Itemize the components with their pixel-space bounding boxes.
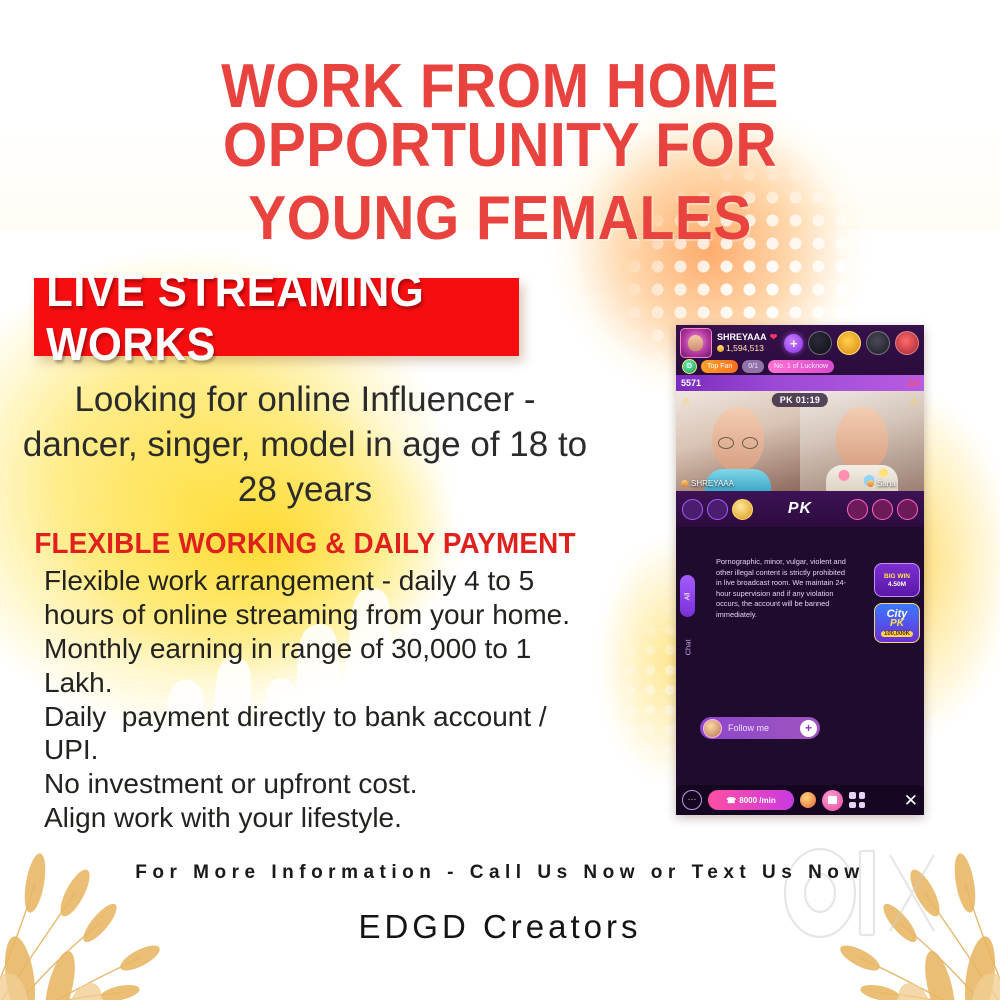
close-icon[interactable]: ✕ bbox=[904, 792, 918, 809]
red-subheading: FLEXIBLE WORKING & DAILY PAYMENT bbox=[31, 528, 578, 561]
pk-label: PK bbox=[788, 500, 812, 518]
left-broadcaster-name-tag: SHREYAAA bbox=[681, 479, 734, 488]
body-line: Lakh. bbox=[44, 666, 604, 700]
host-name-row: SHREYAAA ❤ bbox=[717, 333, 777, 342]
left-broadcaster-name: SHREYAAA bbox=[691, 479, 734, 488]
all-tab-label: All bbox=[684, 592, 691, 600]
supporter-avatar[interactable] bbox=[682, 499, 703, 520]
pk-supporter-row: PK bbox=[676, 491, 924, 527]
supporter-avatar-top[interactable] bbox=[732, 499, 753, 520]
score-progress-bar: 5571 :10 bbox=[676, 375, 924, 391]
badge-chip-row: D Top Fan 0/1 No. 1 of Lucknow bbox=[682, 359, 834, 374]
body-line: UPI. bbox=[44, 733, 604, 767]
body-copy: Flexible work arrangement - daily 4 to 5… bbox=[44, 564, 604, 835]
footer-brand-name: EDGD Creators bbox=[0, 908, 1000, 946]
viewer-avatar[interactable] bbox=[895, 331, 919, 355]
intro-text: Looking for online Influencer - dancer, … bbox=[20, 378, 590, 512]
pk-video-stage: PK 01:19 ⚠ SHREYAAA ⚠ Sana bbox=[676, 391, 924, 491]
viewer-avatar[interactable] bbox=[866, 331, 890, 355]
badge-icon bbox=[681, 480, 688, 487]
banner-label: LIVE STREAMING WORKS bbox=[46, 263, 507, 371]
headline-line-1: WORK FROM HOME OPPORTUNITY FOR bbox=[40, 58, 960, 176]
right-broadcaster-name: Sana bbox=[877, 479, 896, 488]
body-line: No investment or upfront cost. bbox=[44, 767, 604, 801]
face-shape bbox=[836, 407, 888, 471]
chat-tab-label[interactable]: Chat bbox=[681, 632, 695, 662]
follow-me-label: Follow me bbox=[728, 723, 800, 733]
chat-area: All Chat Pornographic, minor, vulgar, vi… bbox=[676, 527, 924, 815]
supporter-avatar[interactable] bbox=[707, 499, 728, 520]
body-line: hours of online streaming from your home… bbox=[44, 598, 604, 632]
grid-menu-icon[interactable] bbox=[849, 792, 865, 808]
city-pk-widget[interactable]: City PK 100,000K bbox=[874, 603, 920, 643]
gift-shop-icon[interactable] bbox=[822, 790, 843, 811]
left-supporters bbox=[682, 499, 753, 520]
right-supporters bbox=[847, 499, 918, 520]
right-broadcaster-name-tag: Sana bbox=[867, 479, 896, 488]
poster-canvas: WORK FROM HOME OPPORTUNITY FOR YOUNG FEM… bbox=[0, 0, 1000, 1000]
call-price-button[interactable]: ☎ 8000 /min bbox=[708, 790, 794, 810]
host-meta: SHREYAAA ❤ 1,594,513 bbox=[717, 333, 777, 353]
headline-line-2: YOUNG FEMALES bbox=[40, 190, 960, 249]
big-win-title: BIG WIN bbox=[884, 573, 910, 580]
badge-icon bbox=[867, 480, 874, 487]
follow-plus-button[interactable]: + bbox=[800, 720, 817, 737]
coin-icon bbox=[717, 345, 724, 352]
live-stream-screenshot: SHREYAAA ❤ 1,594,513 + 7 D Top Fan 0/1 N… bbox=[676, 325, 924, 815]
countdown-value: :10 bbox=[906, 378, 919, 388]
score-value: 5571 bbox=[681, 378, 701, 388]
supporter-avatar[interactable] bbox=[897, 499, 918, 520]
side-widgets: BIG WIN 4.50M City PK 100,000K bbox=[874, 563, 920, 643]
follow-me-prompt[interactable]: Follow me + bbox=[700, 717, 820, 739]
body-line: Flexible work arrangement - daily 4 to 5 bbox=[44, 564, 604, 598]
big-win-value: 4.50M bbox=[888, 581, 906, 588]
chat-label-text: Chat bbox=[684, 639, 693, 655]
call-price-label: 8000 /min bbox=[739, 796, 775, 805]
host-info-row: SHREYAAA ❤ 1,594,513 + 7 bbox=[680, 328, 920, 358]
top-fan-chip[interactable]: Top Fan bbox=[701, 360, 738, 373]
warning-triangle-icon: ⚠ bbox=[908, 395, 920, 407]
supporter-avatar[interactable] bbox=[847, 499, 868, 520]
task-progress-chip[interactable]: 0/1 bbox=[742, 360, 764, 373]
chat-bubble-icon[interactable]: ··· bbox=[682, 790, 702, 810]
warning-triangle-icon: ⚠ bbox=[680, 395, 692, 407]
supporter-avatar[interactable] bbox=[872, 499, 893, 520]
footer-call-to-action: For More Information - Call Us Now or Te… bbox=[0, 862, 1000, 884]
follow-avatar bbox=[703, 719, 722, 738]
coin-value: 1,594,513 bbox=[726, 344, 764, 353]
big-win-widget[interactable]: BIG WIN 4.50M bbox=[874, 563, 920, 597]
city-pk-line-2: PK bbox=[890, 619, 904, 629]
host-avatar-frame[interactable] bbox=[680, 328, 712, 358]
body-line: Align work with your lifestyle. bbox=[44, 801, 604, 835]
live-streaming-banner: LIVE STREAMING WORKS bbox=[34, 278, 519, 356]
chat-filter-all-tab[interactable]: All bbox=[680, 575, 695, 617]
glasses-icon bbox=[718, 437, 758, 449]
stream-bottom-bar: ··· ☎ 8000 /min ✕ bbox=[676, 785, 924, 815]
host-name: SHREYAAA bbox=[717, 333, 767, 342]
follow-host-button[interactable]: + bbox=[784, 334, 803, 353]
pk-timer-badge: PK 01:19 bbox=[772, 393, 828, 407]
city-pk-value: 100,000K bbox=[881, 631, 913, 637]
body-line: Monthly earning in range of 30,000 to 1 bbox=[44, 632, 604, 666]
page-title: WORK FROM HOME OPPORTUNITY FOR YOUNG FEM… bbox=[0, 58, 1000, 249]
viewer-avatar[interactable] bbox=[837, 331, 861, 355]
body-line: Daily payment directly to bank account / bbox=[44, 700, 604, 734]
gift-icon[interactable] bbox=[800, 792, 816, 808]
rank-chip[interactable]: No. 1 of Lucknow bbox=[768, 360, 834, 373]
heart-icon: ❤ bbox=[770, 333, 778, 342]
content-policy-notice: Pornographic, minor, vulgar, violent and… bbox=[716, 557, 848, 620]
level-badge[interactable]: D bbox=[682, 359, 697, 374]
host-coin-count: 1,594,513 bbox=[717, 344, 777, 353]
phone-icon: ☎ bbox=[726, 796, 736, 805]
viewer-avatar[interactable] bbox=[808, 331, 832, 355]
